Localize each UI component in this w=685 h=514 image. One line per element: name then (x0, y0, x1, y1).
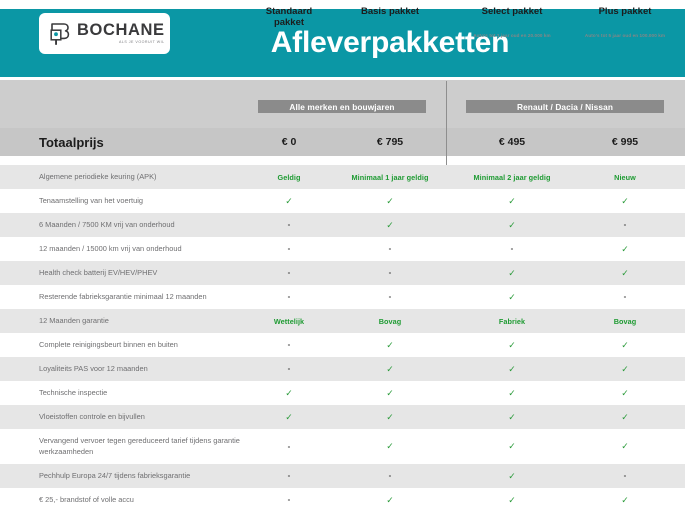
dash-icon: - (389, 245, 392, 253)
check-icon: ✓ (386, 341, 394, 350)
dash-icon: - (288, 443, 291, 451)
feature-cell: ✓ (340, 488, 440, 512)
check-icon: ✓ (386, 389, 394, 398)
check-icon: ✓ (508, 365, 516, 374)
feature-cell: - (254, 213, 324, 237)
table-row: Tenaamstelling van het voertuig✓✓✓✓ (0, 189, 685, 213)
feature-cell: ✓ (580, 189, 670, 213)
feature-cell: - (340, 261, 440, 285)
feature-cell: ✓ (580, 237, 670, 261)
package-column-basis[interactable]: Basis pakket (340, 0, 440, 48)
feature-cell: ✓ (580, 261, 670, 285)
check-icon: ✓ (508, 496, 516, 505)
dash-icon: - (288, 221, 291, 229)
check-icon: ✓ (508, 389, 516, 398)
package-name: Basis pakket (340, 6, 440, 17)
check-icon: ✓ (386, 221, 394, 230)
check-icon: ✓ (621, 389, 629, 398)
dash-icon: - (389, 472, 392, 480)
bochane-monogram-icon (48, 21, 72, 47)
table-row: Algemene periodieke keuring (APK)GeldigM… (0, 165, 685, 189)
check-icon: ✓ (386, 496, 394, 505)
afleverpakketten-page: Afleverpakketten BOCHANE ALS JE VOORUIT … (0, 0, 685, 514)
price-standaard: € 0 (254, 128, 324, 156)
feature-cell: - (254, 464, 324, 488)
feature-cell: ✓ (455, 464, 569, 488)
feature-cell: ✓ (455, 285, 569, 309)
table-row: 6 Maanden / 7500 KM vrij van onderhoud-✓… (0, 213, 685, 237)
table-row: Complete reinigingsbeurt binnen en buite… (0, 333, 685, 357)
dash-icon: - (624, 472, 627, 480)
package-column-plus[interactable]: Plus pakket Auto's tot 5 jaar oud en 100… (580, 0, 670, 48)
table-row: Vloeistoffen controle en bijvullen✓✓✓✓ (0, 405, 685, 429)
dash-icon: - (288, 365, 291, 373)
price-plus: € 995 (580, 128, 670, 156)
feature-cell: ✓ (580, 357, 670, 381)
feature-value: Minimaal 2 jaar geldig (474, 173, 551, 182)
dash-icon: - (288, 269, 291, 277)
feature-cell: - (254, 333, 324, 357)
price-select: € 495 (455, 128, 569, 156)
check-icon: ✓ (508, 221, 516, 230)
feature-label: Health check batterij EV/HEV/PHEV (39, 261, 254, 285)
feature-cell: ✓ (455, 357, 569, 381)
feature-cell: ✓ (455, 213, 569, 237)
feature-label: 12 maanden / 15000 km vrij van onderhoud (39, 237, 254, 261)
brand-bar-alle-merken: Alle merken en bouwjaren (258, 100, 426, 113)
feature-cell: Wettelijk (254, 309, 324, 333)
table-row: Loyaliteits PAS voor 12 maanden-✓✓✓ (0, 357, 685, 381)
dash-icon: - (288, 245, 291, 253)
check-icon: ✓ (508, 442, 516, 451)
feature-label: 12 Maanden garantie (39, 309, 254, 333)
feature-cell: - (254, 488, 324, 512)
feature-cell: Minimaal 2 jaar geldig (455, 165, 569, 189)
package-subtitle: Auto's tot 5 jaar oud en 100.000 km (580, 33, 670, 38)
feature-value: Bovag (379, 317, 402, 326)
check-icon: ✓ (621, 341, 629, 350)
feature-cell: ✓ (340, 429, 440, 464)
check-icon: ✓ (508, 269, 516, 278)
dash-icon: - (511, 245, 514, 253)
check-icon: ✓ (386, 442, 394, 451)
feature-cell: - (254, 261, 324, 285)
check-icon: ✓ (621, 245, 629, 254)
table-row: 12 maanden / 15000 km vrij van onderhoud… (0, 237, 685, 261)
package-column-standaard[interactable]: Standaard pakket (254, 0, 324, 48)
check-icon: ✓ (285, 197, 293, 206)
feature-value: Nieuw (614, 173, 636, 182)
check-icon: ✓ (386, 365, 394, 374)
package-name: Plus pakket (580, 6, 670, 17)
feature-cell: ✓ (340, 381, 440, 405)
feature-cell: - (580, 285, 670, 309)
check-icon: ✓ (508, 341, 516, 350)
check-icon: ✓ (285, 389, 293, 398)
check-icon: ✓ (386, 197, 394, 206)
check-icon: ✓ (508, 293, 516, 302)
feature-cell: ✓ (254, 381, 324, 405)
dash-icon: - (288, 472, 291, 480)
dash-icon: - (624, 293, 627, 301)
check-icon: ✓ (508, 197, 516, 206)
check-icon: ✓ (386, 413, 394, 422)
feature-cell: ✓ (455, 488, 569, 512)
check-icon: ✓ (621, 365, 629, 374)
feature-label: € 25,- brandstof of volle accu (39, 488, 254, 512)
feature-label: Complete reinigingsbeurt binnen en buite… (39, 333, 254, 357)
package-name: Select pakket (455, 6, 569, 17)
feature-label: Loyaliteits PAS voor 12 maanden (39, 357, 254, 381)
bochane-logo[interactable]: BOCHANE ALS JE VOORUIT WIL (39, 13, 170, 54)
feature-cell: - (254, 285, 324, 309)
table-row: € 25,- brandstof of volle accu-✓✓✓ (0, 488, 685, 512)
package-name: Standaard pakket (254, 6, 324, 28)
feature-cell: - (254, 357, 324, 381)
feature-value: Bovag (614, 317, 637, 326)
feature-cell: ✓ (455, 429, 569, 464)
package-column-select[interactable]: Select pakket Auto's tot 1 jaar oud en 2… (455, 0, 569, 48)
table-row: Technische inspectie✓✓✓✓ (0, 381, 685, 405)
table-row: Resterende fabrieksgarantie minimaal 12 … (0, 285, 685, 309)
check-icon: ✓ (285, 413, 293, 422)
feature-cell: Minimaal 1 jaar geldig (340, 165, 440, 189)
feature-cell: ✓ (580, 381, 670, 405)
price-basis: € 795 (340, 128, 440, 156)
feature-label: Tenaamstelling van het voertuig (39, 189, 254, 213)
check-icon: ✓ (621, 197, 629, 206)
feature-cell: ✓ (254, 189, 324, 213)
feature-cell: Fabriek (455, 309, 569, 333)
check-icon: ✓ (508, 472, 516, 481)
table-row: Pechhulp Europa 24/7 tijdens fabrieksgar… (0, 464, 685, 488)
feature-cell: ✓ (340, 189, 440, 213)
feature-cell: ✓ (580, 405, 670, 429)
check-icon: ✓ (621, 442, 629, 451)
brand-bar-renault-dacia-nissan: Renault / Dacia / Nissan (466, 100, 664, 113)
feature-value: Minimaal 1 jaar geldig (352, 173, 429, 182)
feature-label: Resterende fabrieksgarantie minimaal 12 … (39, 285, 254, 309)
feature-cell: ✓ (580, 429, 670, 464)
feature-cell: ✓ (455, 261, 569, 285)
dash-icon: - (389, 269, 392, 277)
feature-cell: ✓ (580, 488, 670, 512)
check-icon: ✓ (621, 269, 629, 278)
feature-cell: ✓ (340, 333, 440, 357)
dash-icon: - (288, 496, 291, 504)
dash-icon: - (624, 221, 627, 229)
feature-cell: ✓ (455, 189, 569, 213)
feature-cell: ✓ (580, 333, 670, 357)
feature-cell: ✓ (340, 213, 440, 237)
feature-cell: - (254, 237, 324, 261)
feature-label: Pechhulp Europa 24/7 tijdens fabrieksgar… (39, 464, 254, 488)
feature-cell: Bovag (580, 309, 670, 333)
feature-comparison-table: Algemene periodieke keuring (APK)GeldigM… (0, 165, 685, 512)
feature-cell: Bovag (340, 309, 440, 333)
feature-cell: ✓ (455, 381, 569, 405)
check-icon: ✓ (621, 413, 629, 422)
table-row: Health check batterij EV/HEV/PHEV--✓✓ (0, 261, 685, 285)
feature-value: Geldig (277, 173, 300, 182)
table-row: Vervangend vervoer tegen gereduceerd tar… (0, 429, 685, 464)
feature-value: Fabriek (499, 317, 525, 326)
dash-icon: - (288, 341, 291, 349)
logo-tagline: ALS JE VOORUIT WIL (77, 41, 165, 45)
feature-cell: - (580, 464, 670, 488)
feature-cell: ✓ (340, 357, 440, 381)
table-row: 12 Maanden garantieWettelijkBovagFabriek… (0, 309, 685, 333)
dash-icon: - (389, 293, 392, 301)
feature-cell: Geldig (254, 165, 324, 189)
feature-cell: ✓ (340, 405, 440, 429)
logo-wordmark: BOCHANE (77, 22, 165, 39)
check-icon: ✓ (508, 413, 516, 422)
feature-cell: ✓ (254, 405, 324, 429)
feature-cell: - (340, 237, 440, 261)
total-price-label: Totaalprijs (39, 128, 104, 156)
feature-cell: - (340, 464, 440, 488)
feature-value: Wettelijk (274, 317, 304, 326)
feature-cell: - (340, 285, 440, 309)
feature-label: Vloeistoffen controle en bijvullen (39, 405, 254, 429)
feature-cell: - (455, 237, 569, 261)
feature-cell: ✓ (455, 333, 569, 357)
feature-cell: - (254, 429, 324, 464)
dash-icon: - (288, 293, 291, 301)
feature-label: Vervangend vervoer tegen gereduceerd tar… (39, 429, 254, 464)
check-icon: ✓ (621, 496, 629, 505)
feature-label: Technische inspectie (39, 381, 254, 405)
feature-cell: ✓ (455, 405, 569, 429)
feature-cell: Nieuw (580, 165, 670, 189)
feature-cell: - (580, 213, 670, 237)
feature-label: Algemene periodieke keuring (APK) (39, 165, 254, 189)
feature-label: 6 Maanden / 7500 KM vrij van onderhoud (39, 213, 254, 237)
package-subtitle: Auto's tot 1 jaar oud en 20.000 km (455, 33, 569, 38)
